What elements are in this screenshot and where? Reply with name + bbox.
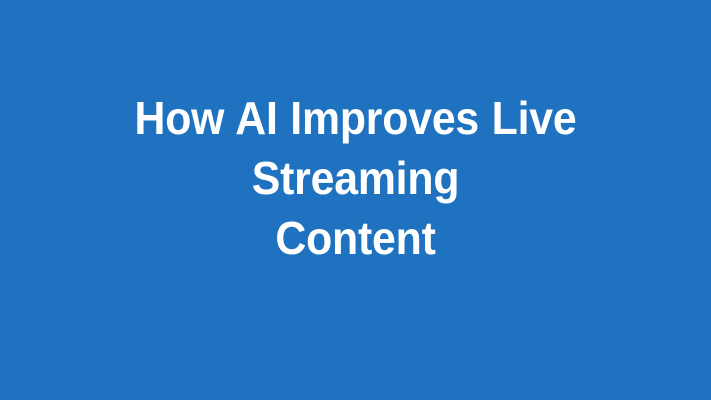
slide-canvas: How AI Improves Live Streaming Content [0,0,711,400]
title-block: How AI Improves Live Streaming Content [0,88,711,268]
page-title: How AI Improves Live Streaming Content [47,88,664,268]
page-title-line-1: How AI Improves Live Streaming [47,88,664,208]
page-title-line-2: Content [47,208,664,268]
